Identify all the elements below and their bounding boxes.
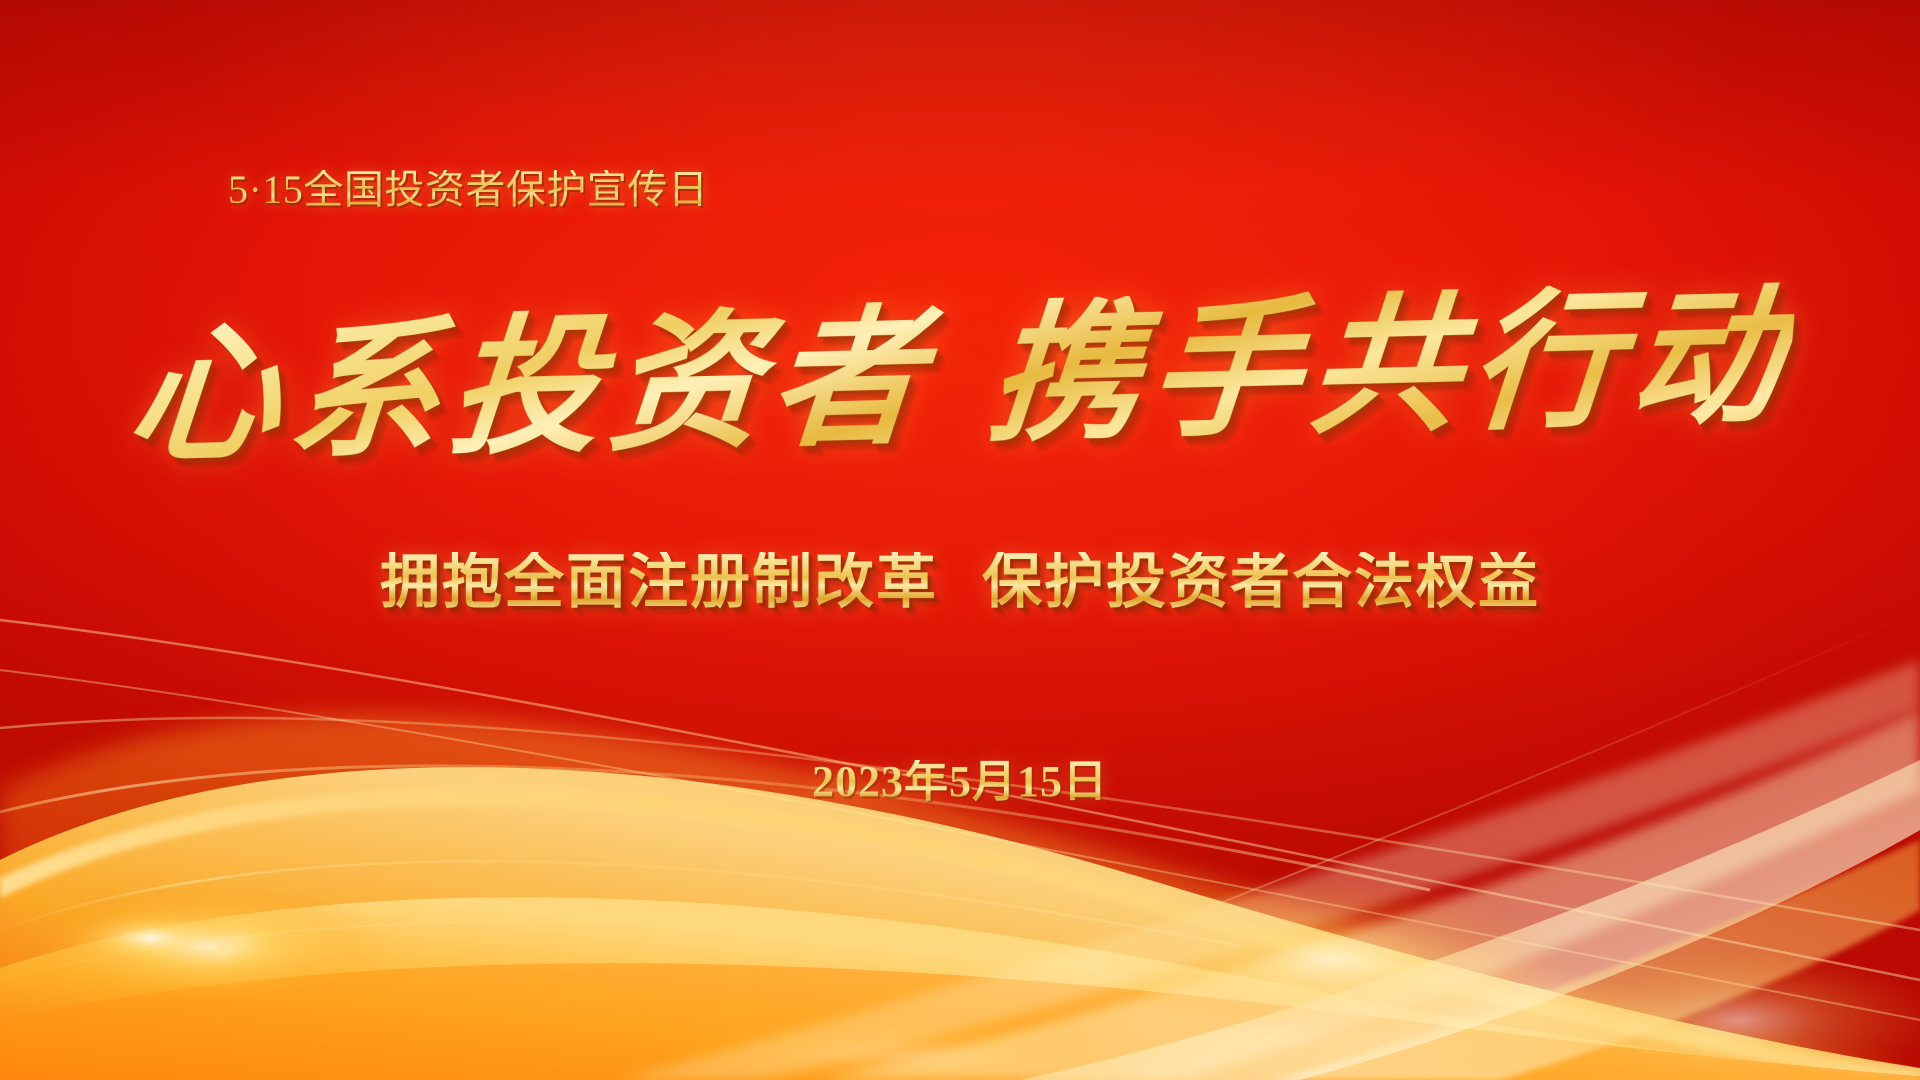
event-date: 2023年5月15日 xyxy=(0,760,1920,804)
main-title-wrap: 心系投资者携手共行动 xyxy=(0,300,1920,458)
promo-poster: 5·15全国投资者保护宣传日 心系投资者携手共行动 拥抱全面注册制改革保护投资者… xyxy=(0,0,1920,1080)
subtitle-part-2: 保护投资者合法权益 xyxy=(982,548,1540,615)
main-title-part-1: 心系投资者 xyxy=(122,296,937,481)
poster-content: 5·15全国投资者保护宣传日 心系投资者携手共行动 拥抱全面注册制改革保护投资者… xyxy=(0,0,1920,1080)
main-title: 心系投资者携手共行动 xyxy=(123,280,1797,478)
event-eyebrow-text: 5·15全国投资者保护宣传日 xyxy=(228,170,708,210)
title-spacer xyxy=(927,427,985,428)
main-title-part-2: 携手共行动 xyxy=(982,275,1797,460)
subtitle-part-1: 拥抱全面注册制改革 xyxy=(380,548,938,615)
subtitle: 拥抱全面注册制改革保护投资者合法权益 xyxy=(0,552,1920,612)
